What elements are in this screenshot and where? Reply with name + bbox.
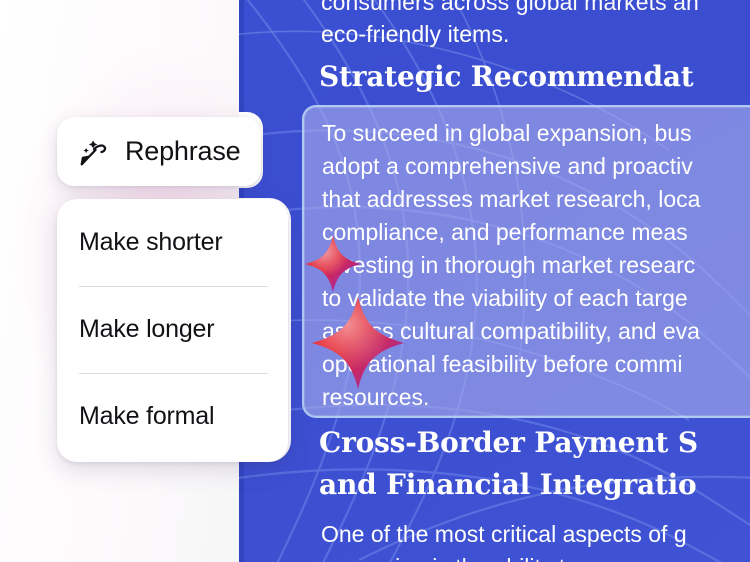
selection-line: compliance, and performance meas <box>322 216 700 249</box>
menu-item-make-shorter[interactable]: Make shorter <box>79 199 266 286</box>
selected-paragraph-highlight[interactable]: To succeed in global expansion, bus adop… <box>302 105 750 418</box>
document-tail-line-1: One of the most critical aspects of g <box>321 518 687 551</box>
selected-paragraph-text: To succeed in global expansion, bus adop… <box>322 117 700 414</box>
rephrase-options-menu[interactable]: Make shorter Make longer Make formal <box>57 199 288 462</box>
heading-cross-border-payments: Cross-Border Payment S and Financial Int… <box>319 422 698 506</box>
menu-item-label: Make shorter <box>79 228 223 257</box>
heading-cross-border-line2: and Financial Integratio <box>319 468 697 501</box>
document-clipped-line: consumers across global markets an <box>321 0 699 19</box>
selection-line: operational feasibility before commi <box>322 348 700 381</box>
menu-item-label: Make formal <box>79 402 214 431</box>
rephrase-button-label: Rephrase <box>125 136 240 167</box>
heading-strategic-recommendations: Strategic Recommendat <box>319 60 694 93</box>
document-intro-line: eco-friendly items. <box>321 18 510 51</box>
selection-line: Investing in thorough market researc <box>322 249 700 282</box>
screenshot-stage: consumers across global markets an eco-f… <box>0 0 750 562</box>
menu-item-label: Make longer <box>79 315 214 344</box>
menu-item-make-longer[interactable]: Make longer <box>79 286 266 373</box>
selection-line: resources. <box>322 381 700 414</box>
selection-line: adopt a comprehensive and proactiv <box>322 150 700 183</box>
selection-line: to validate the viability of each targe <box>322 282 700 315</box>
selection-line: assess cultural compatibility, and eva <box>322 315 700 348</box>
selection-line: that addresses market research, loca <box>322 183 700 216</box>
heading-cross-border-line1: Cross-Border Payment S <box>319 426 698 459</box>
magic-wand-sparkles-icon <box>77 135 111 169</box>
document-tail-line-2: expansion is the ability to <box>321 551 578 562</box>
rephrase-button[interactable]: Rephrase <box>57 117 261 186</box>
selection-line: To succeed in global expansion, bus <box>322 117 700 150</box>
menu-item-make-formal[interactable]: Make formal <box>79 373 266 460</box>
